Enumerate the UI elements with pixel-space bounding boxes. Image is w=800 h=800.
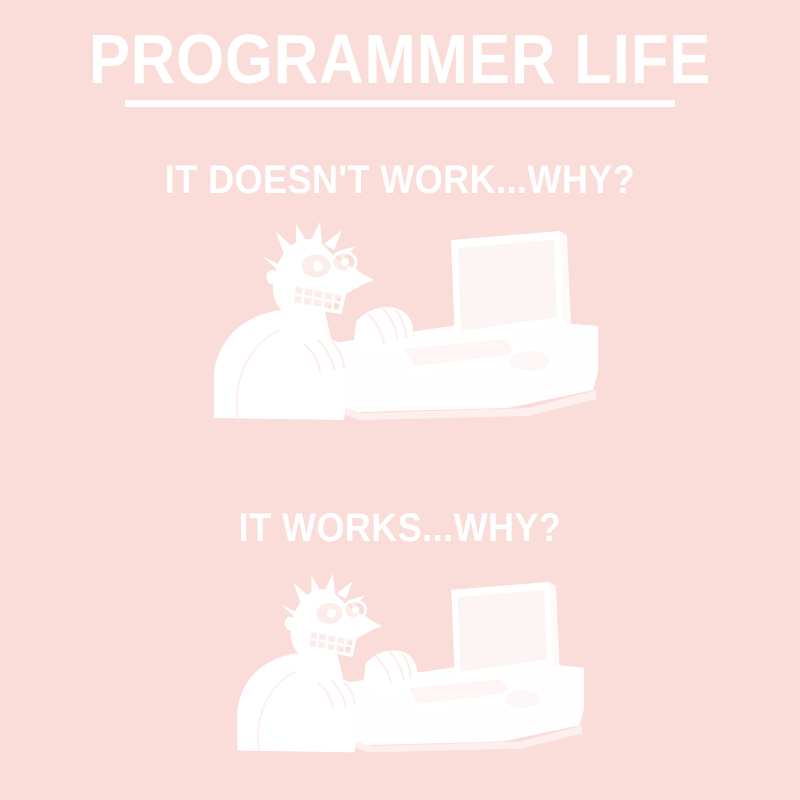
monitor-screen <box>458 590 547 672</box>
character-pupil-left <box>313 261 323 271</box>
hand-right-palm <box>354 307 413 357</box>
panel-1-caption: IT DOESN'T WORK...WHY? <box>40 158 760 202</box>
hand-right-palm <box>364 650 417 695</box>
meme-canvas: PROGRAMMER LIFE IT DOESN'T WORK...WHY? <box>0 0 800 800</box>
page-title: PROGRAMMER LIFE <box>48 28 752 90</box>
character-hand-left <box>306 678 362 723</box>
mouse <box>499 686 546 713</box>
title-underline-rule <box>125 100 675 107</box>
panel-2-caption: IT WORKS...WHY? <box>40 506 760 550</box>
character-pupil-left <box>327 609 336 618</box>
programmer-at-desk-drawing <box>214 222 598 420</box>
meme-title-block: PROGRAMMER LIFE <box>0 28 800 107</box>
mouse-highlight <box>505 690 541 708</box>
character-hand-right <box>354 307 413 357</box>
character-pupil-right <box>352 606 359 613</box>
character-hand-right <box>364 650 417 695</box>
mouse <box>504 347 556 377</box>
character-pupil-right <box>341 258 349 266</box>
monitor-screen <box>458 240 557 331</box>
character-hand-left <box>290 338 352 387</box>
programmer-at-desk-drawing <box>237 574 584 753</box>
panel-2-illustration <box>232 570 584 756</box>
mouse-highlight <box>510 351 550 371</box>
panel-1-illustration <box>208 222 598 420</box>
